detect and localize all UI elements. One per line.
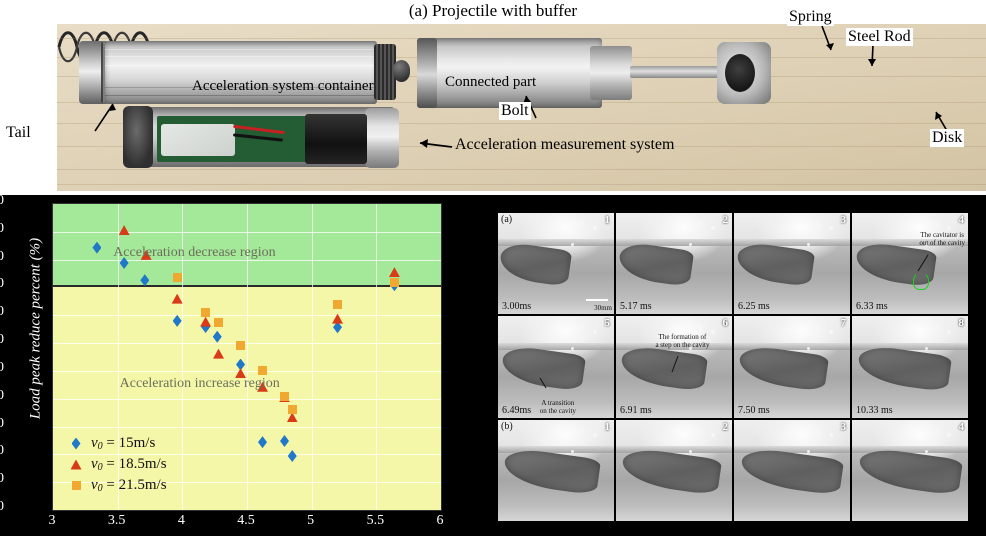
region-label-increase: Acceleration increase region [120,376,280,392]
data-point [333,300,342,309]
bubble [807,347,810,350]
gridline-horizontal [53,427,441,428]
bubble [947,433,951,437]
legend-marker-icon [67,481,85,490]
bubble [829,433,833,437]
frame-number: 1 [605,214,611,226]
gridline-horizontal [53,371,441,372]
frame-number: 2 [723,421,729,433]
legend-marker-icon [67,460,85,470]
data-point [213,349,224,359]
potting-foam [161,124,235,156]
data-point [213,331,222,343]
data-point [173,315,182,327]
data-point [390,278,399,287]
data-point [280,435,289,447]
figure-root: (a) Projectile with buffer [0,0,986,536]
x-tick-label: 5 [291,513,331,529]
label-spring: Spring [787,8,834,26]
chart-plot-area: Acceleration decrease region Acceleratio… [52,203,442,511]
bubble [829,330,833,334]
frame-panel-label: (b) [501,421,513,432]
x-tick-label: 3 [32,513,72,529]
data-point [287,412,298,422]
data-point [258,366,267,375]
frame-number: 8 [959,317,965,329]
data-point [201,308,210,317]
scale-bar-label: 30mm [594,304,612,312]
high-speed-frame: 66.91 msThe formation ofa step on the ca… [616,316,732,417]
label-steel-rod: Steel Rod [846,28,913,46]
data-point [258,436,267,448]
y-tick-label: -50 [0,416,4,432]
gridline-vertical [376,204,377,510]
steel-rod [630,66,722,78]
cavitator-highlight-outline [913,272,929,290]
bubble [933,429,939,435]
y-tick-label: 10 [0,249,4,265]
frame-timestamp: 5.17 ms [620,301,652,312]
data-point [236,341,245,350]
bubble [593,433,597,437]
chart-y-axis-label: Load peak reduce percent (%) [28,209,45,449]
marker-glyph [72,481,81,490]
y-tick-label: -80 [0,499,4,515]
frame-grid: 1(a)3.00ms30mm25.17 ms36.25 ms46.33 msTh… [498,213,968,521]
acceleration-measurement-system-end [365,108,399,168]
legend-item: v0 = 21.5m/s [67,475,167,496]
high-speed-frame: 3 [734,420,850,521]
data-point [214,318,223,327]
label-disk: Disk [930,129,964,147]
data-point [200,317,211,327]
opened-container-left-cap [123,106,153,168]
legend-label: v0 = 15m/s [91,435,155,452]
y-tick-label: 0 [0,276,4,292]
y-tick-label: 30 [0,193,4,209]
region-label-decrease: Acceleration decrease region [113,245,275,261]
disk-bore [725,54,755,92]
label-bolt: Bolt [499,102,531,120]
data-point [280,392,289,401]
chart-legend: v0 = 15m/sv0 = 18.5m/sv0 = 21.5m/s [67,433,167,496]
high-speed-frame: 46.33 msThe cavitator isout of the cavit… [852,213,968,314]
high-speed-frame: 810.33 ms [852,316,968,417]
y-tick-label: -40 [0,388,4,404]
bubble [697,429,703,435]
label-acceleration-measurement-system: Acceleration measurement system [455,136,674,154]
high-speed-frame: 1(a)3.00ms30mm [498,213,614,314]
legend-label: v0 = 21.5m/s [91,477,167,494]
x-tick-label: 6 [420,513,460,529]
gridline-horizontal [53,315,441,316]
frame-timestamp: 10.33 ms [856,405,893,416]
bubble [711,433,715,437]
frame-number: 2 [723,214,729,226]
y-tick-label: 20 [0,221,4,237]
high-speed-frame: 56.49msA transitionon the cavity [498,316,614,417]
bubble [947,330,951,334]
x-tick-label: 4.5 [226,513,266,529]
connected-part-cap [417,38,437,108]
figure-title: (a) Projectile with buffer [0,0,986,22]
high-speed-frame: 77.50 ms [734,316,850,417]
frame-timestamp: 6.25 ms [738,301,770,312]
data-point [288,450,297,462]
frame-timestamp: 3.00ms [502,301,531,312]
bubble [815,429,821,435]
data-point [288,405,297,414]
gridline-horizontal [53,232,441,233]
legend-item: v0 = 18.5m/s [67,454,167,475]
frame-number: 7 [841,317,847,329]
projectile-photo-panel: (a) Projectile with buffer [0,0,986,195]
connected-part-body [417,38,602,108]
frame-number: 1 [605,421,611,433]
high-speed-frame: 25.17 ms [616,213,732,314]
high-speed-frames-panel: 1(a)3.00ms30mm25.17 ms36.25 ms46.33 msTh… [460,195,986,536]
bubble [925,347,928,350]
label-connected-part: Connected part [445,74,536,91]
marker-glyph [72,438,81,450]
annotation-leader-line [616,316,732,417]
label-acceleration-system-container: Acceleration system container [192,78,374,95]
x-tick-label: 3.5 [97,513,137,529]
data-point [172,294,183,304]
battery-pack [305,114,367,164]
marker-glyph [71,460,82,470]
high-speed-frame: 2 [616,420,732,521]
y-tick-label: -20 [0,332,4,348]
annotation-leader-line [498,316,614,417]
bubble [579,429,585,435]
frame-timestamp: 7.50 ms [738,405,770,416]
legend-marker-icon [67,438,85,450]
frame-panel-label: (a) [501,214,512,225]
high-speed-frame: 4 [852,420,968,521]
gridline-vertical [312,204,313,510]
frame-number: 3 [841,421,847,433]
label-tail: Tail [4,124,33,142]
data-point [173,273,182,282]
gridline-horizontal [53,399,441,400]
legend-label: v0 = 18.5m/s [91,456,167,473]
x-tick-label: 4 [161,513,201,529]
y-tick-label: -60 [0,443,4,459]
scale-bar [586,299,608,301]
high-speed-frame: 36.25 ms [734,213,850,314]
frame-number: 3 [841,214,847,226]
annotation-leader-line [852,213,968,314]
x-tick-label: 5.5 [355,513,395,529]
connected-part-right-step [590,46,632,100]
y-tick-label: -70 [0,471,4,487]
frame-number: 4 [959,421,965,433]
y-tick-label: -10 [0,304,4,320]
high-speed-frame: 1(b) [498,420,614,521]
y-tick-label: -30 [0,360,4,376]
bolt-head [393,60,410,82]
legend-item: v0 = 15m/s [67,433,167,454]
load-peak-chart-panel: Load peak reduce percent (%) Acceleratio… [0,195,460,536]
gridline-horizontal [53,343,441,344]
